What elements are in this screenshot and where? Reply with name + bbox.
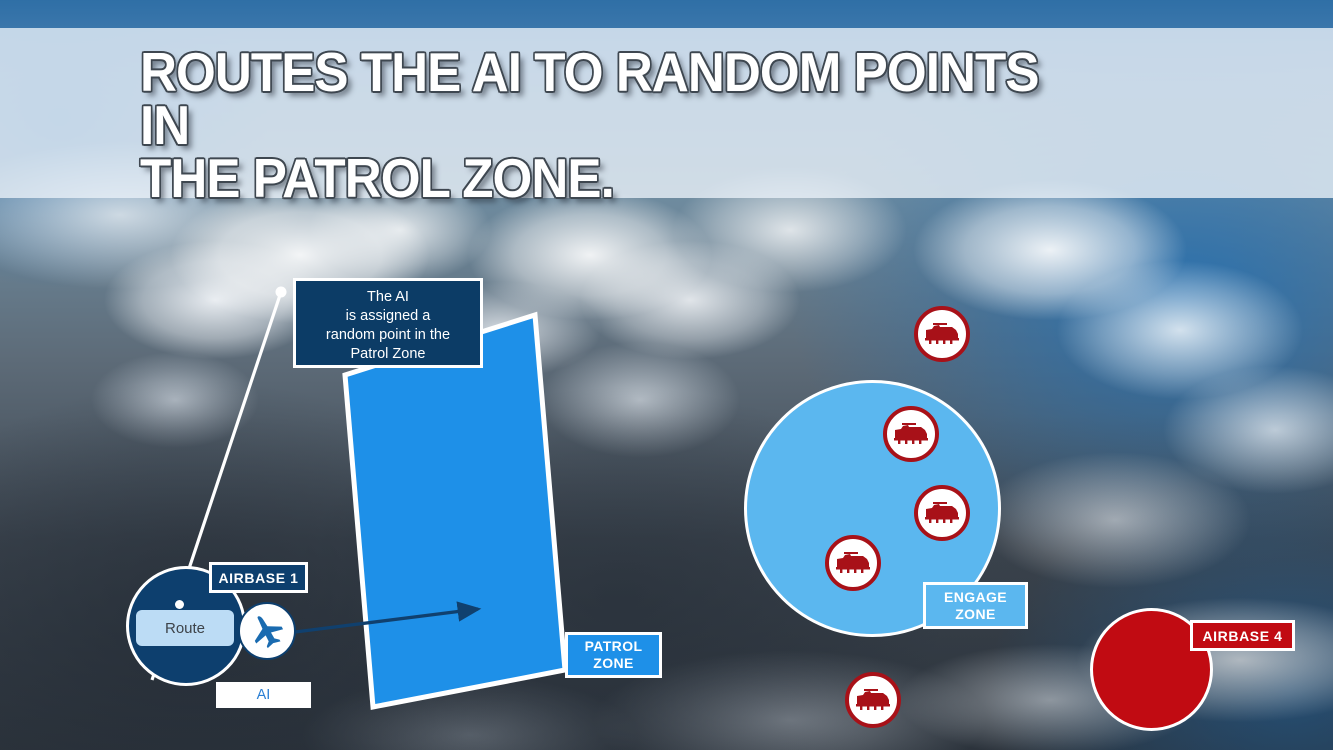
tank-marker-zone-left[interactable] — [825, 535, 881, 591]
callout-box: The AI is assigned a random point in the… — [293, 278, 483, 368]
armored-vehicle-icon — [923, 500, 961, 526]
armored-vehicle-icon — [854, 687, 892, 713]
label-ai: AI — [216, 682, 311, 708]
patrol-zone-polygon[interactable] — [345, 315, 565, 707]
armored-vehicle-icon — [923, 321, 961, 347]
tank-marker-zone-top[interactable] — [883, 406, 939, 462]
label-patrol-zone: PATROL ZONE — [565, 632, 662, 678]
armored-vehicle-icon — [834, 550, 872, 576]
tank-marker-south[interactable] — [845, 672, 901, 728]
tank-marker-zone-right[interactable] — [914, 485, 970, 541]
slide-canvas: ROUTES THE AI TO RANDOM POINTS IN THE PA… — [0, 0, 1333, 750]
tank-marker-north[interactable] — [914, 306, 970, 362]
callout-leader-endpoint — [276, 287, 287, 298]
label-engage-zone: ENGAGE ZONE — [923, 582, 1028, 629]
label-airbase-1: AIRBASE 1 — [209, 562, 308, 593]
route-chip[interactable]: Route — [136, 610, 234, 646]
fighter-jet-icon — [247, 611, 287, 651]
ai-jet-badge[interactable] — [238, 602, 296, 660]
route-waypoint-dot — [175, 600, 184, 609]
label-airbase-4: AIRBASE 4 — [1190, 620, 1295, 651]
armored-vehicle-icon — [892, 421, 930, 447]
